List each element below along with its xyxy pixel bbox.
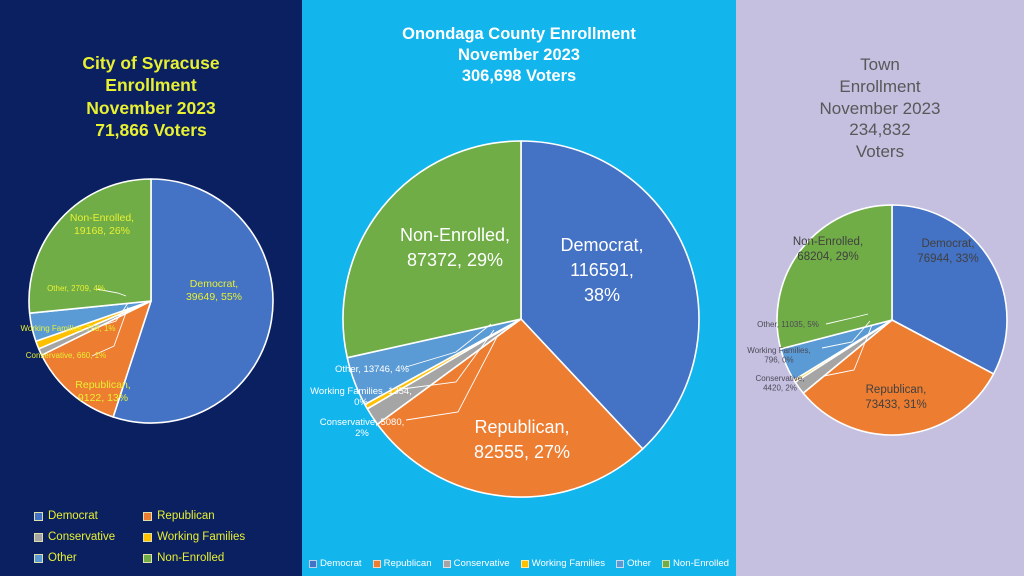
- legend-item-conservative[interactable]: Conservative: [34, 531, 115, 543]
- pie-label-working-families: Working Families, 758, 1%: [21, 324, 116, 333]
- legend-item-republican[interactable]: Republican: [373, 558, 432, 569]
- pie-label-other: Other, 2709, 4%: [47, 284, 105, 293]
- county-pie-chart: Democrat,116591,38%Non-Enrolled,87372, 2…: [306, 134, 736, 514]
- legend-swatch-icon: [34, 512, 43, 521]
- town-chart-title: Town Enrollment November 2023 234,832 Vo…: [736, 54, 1024, 163]
- legend-swatch-icon: [34, 533, 43, 542]
- legend-item-label: Working Families: [157, 531, 245, 543]
- legend-item-label: Other: [627, 558, 651, 569]
- legend-item-label: Other: [48, 552, 77, 564]
- legend-swatch-icon: [309, 560, 317, 568]
- legend-item-other[interactable]: Other: [34, 552, 115, 564]
- legend-item-label: Conservative: [48, 531, 115, 543]
- county-legend: DemocratRepublicanConservativeWorking Fa…: [302, 558, 736, 569]
- legend-swatch-icon: [143, 554, 152, 563]
- legend-item-label: Working Families: [532, 558, 605, 569]
- legend-swatch-icon: [443, 560, 451, 568]
- panel-city-of-syracuse: City of Syracuse Enrollment November 202…: [0, 0, 302, 576]
- pie-label-conservative: Conservative, 660, 1%: [26, 351, 107, 360]
- legend-item-label: Non-Enrolled: [157, 552, 224, 564]
- legend-item-conservative[interactable]: Conservative: [443, 558, 510, 569]
- town-pie-chart: Democrat,76944, 33%Non-Enrolled,68204, 2…: [744, 202, 1020, 472]
- legend-item-working-families[interactable]: Working Families: [143, 531, 245, 543]
- legend-item-label: Democrat: [320, 558, 362, 569]
- panel-onondaga-county: Onondaga County Enrollment November 2023…: [302, 0, 736, 576]
- legend-swatch-icon: [143, 512, 152, 521]
- legend-swatch-icon: [521, 560, 529, 568]
- city-chart-title: City of Syracuse Enrollment November 202…: [0, 52, 302, 142]
- city-pie-chart: Democrat,39649, 55%Non-Enrolled,19168, 2…: [6, 176, 302, 466]
- legend-swatch-icon: [143, 533, 152, 542]
- pie-label-other: Other, 11035, 5%: [757, 320, 819, 329]
- pie-label-other: Other, 13746, 4%: [335, 364, 409, 375]
- enrollment-pie-chart-slide: City of Syracuse Enrollment November 202…: [0, 0, 1024, 576]
- legend-swatch-icon: [662, 560, 670, 568]
- legend-swatch-icon: [373, 560, 381, 568]
- city-legend: DemocratRepublicanConservativeWorking Fa…: [34, 510, 245, 564]
- legend-item-non-enrolled[interactable]: Non-Enrolled: [143, 552, 245, 564]
- pie-label-republican: Republican,9122, 13%: [75, 379, 130, 404]
- legend-item-label: Conservative: [454, 558, 510, 569]
- pie-label-non-enrolled: Non-Enrolled,19168, 26%: [70, 212, 134, 237]
- legend-item-democrat[interactable]: Democrat: [309, 558, 362, 569]
- legend-item-label: Republican: [384, 558, 432, 569]
- legend-item-other[interactable]: Other: [616, 558, 651, 569]
- legend-item-label: Non-Enrolled: [673, 558, 729, 569]
- county-chart-title: Onondaga County Enrollment November 2023…: [302, 24, 736, 87]
- legend-item-working-families[interactable]: Working Families: [521, 558, 605, 569]
- pie-label-democrat: Democrat,39649, 55%: [186, 278, 242, 303]
- legend-item-democrat[interactable]: Democrat: [34, 510, 115, 522]
- legend-swatch-icon: [616, 560, 624, 568]
- legend-item-republican[interactable]: Republican: [143, 510, 245, 522]
- panel-town: Town Enrollment November 2023 234,832 Vo…: [736, 0, 1024, 576]
- legend-swatch-icon: [34, 554, 43, 563]
- legend-item-non-enrolled[interactable]: Non-Enrolled: [662, 558, 729, 569]
- legend-item-label: Democrat: [48, 510, 98, 522]
- legend-item-label: Republican: [157, 510, 215, 522]
